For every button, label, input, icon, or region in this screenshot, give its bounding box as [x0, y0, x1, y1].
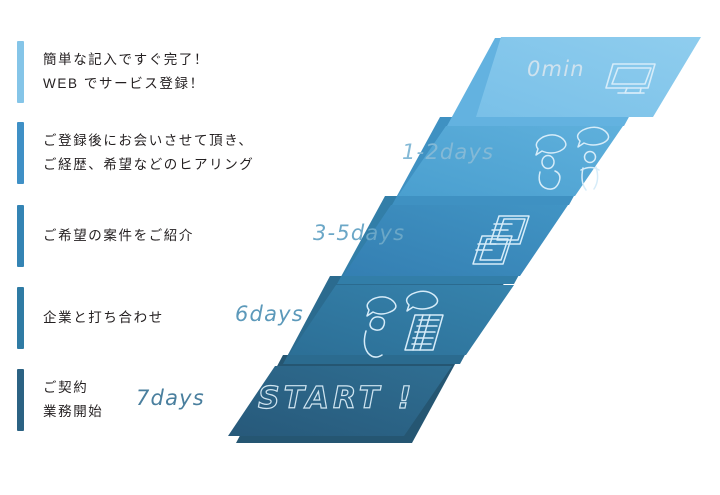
person-and-building-icon: [364, 291, 443, 357]
accent-bar-4: [17, 287, 24, 349]
monitor-icon: [606, 64, 655, 93]
documents-icon: [473, 216, 529, 264]
duration-label-2: 1-2days: [402, 140, 494, 164]
duration-label-1: 0min: [527, 57, 585, 81]
step-row-4: 企業と打ち合わせ: [0, 282, 164, 354]
step-row-5: ご契約 業務開始: [0, 364, 103, 436]
step-description-2: ご登録後にお会いさせて頂き、 ご経歴、希望などのヒアリング: [43, 129, 254, 176]
step-row-2: ご登録後にお会いさせて頂き、 ご経歴、希望などのヒアリング: [0, 117, 254, 189]
accent-bar-2: [17, 122, 24, 184]
stair-step-1: [447, 37, 701, 126]
two-people-talking-icon: [536, 127, 609, 190]
step-row-1: 簡単な記入ですぐ完了！ WEB でサービス登録！: [0, 36, 209, 108]
step-description-1: 簡単な記入ですぐ完了！ WEB でサービス登録！: [43, 48, 209, 95]
accent-bar-5: [17, 369, 24, 431]
duration-label-4: 6days: [235, 302, 304, 326]
accent-bar-3: [17, 205, 24, 267]
stair-step-4: [283, 276, 514, 364]
step-row-3: ご希望の案件をご紹介: [0, 200, 194, 272]
step-description-4: 企業と打ち合わせ: [43, 306, 164, 330]
infographic-canvas: 簡単な記入ですぐ完了！ WEB でサービス登録！ ご登録後にお会いさせて頂き、 …: [0, 0, 720, 495]
step-description-3: ご希望の案件をご紹介: [43, 224, 194, 248]
duration-label-5: 7days: [136, 386, 205, 410]
start-wordmark: START !: [258, 381, 415, 416]
accent-bar-1: [17, 41, 24, 103]
duration-label-3: 3-5days: [313, 221, 405, 245]
step-description-5: ご契約 業務開始: [43, 376, 103, 423]
